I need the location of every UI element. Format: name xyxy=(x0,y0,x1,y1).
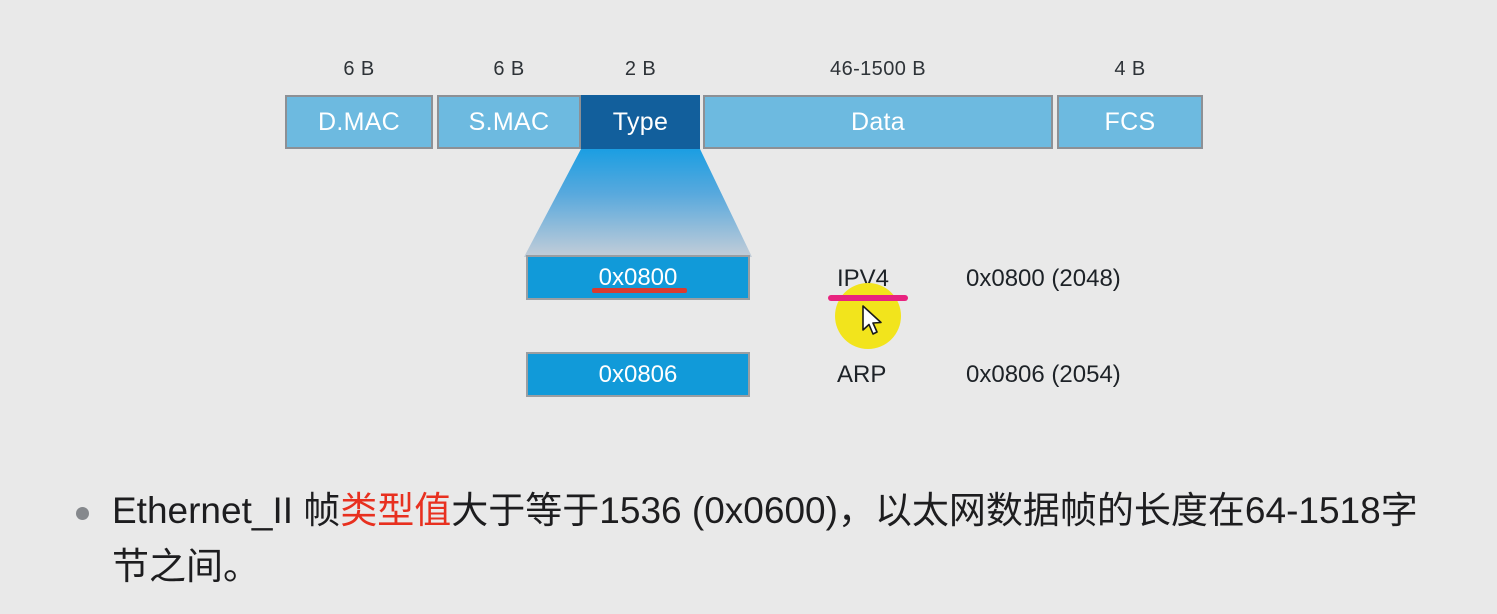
type-value-box-0x0806[interactable]: 0x0806 xyxy=(526,352,750,397)
byte-label-type: 2 B xyxy=(581,58,700,81)
frame-field-fcs[interactable]: FCS xyxy=(1057,95,1203,149)
type-value-box-0x0800[interactable]: 0x0800 xyxy=(526,255,750,300)
frame-field-smac[interactable]: S.MAC xyxy=(437,95,581,149)
bullet-segment-plain-1: Ethernet_II 帧 xyxy=(112,490,340,531)
mouse-cursor-icon xyxy=(862,305,884,337)
byte-label-fcs: 4 B xyxy=(1057,58,1203,81)
byte-label-dmac: 6 B xyxy=(285,58,433,81)
protocol-name-arp: ARP xyxy=(837,361,886,389)
protocol-value-arp: 0x0806 (2054) xyxy=(966,361,1121,389)
frame-field-data[interactable]: Data xyxy=(703,95,1053,149)
frame-field-dmac[interactable]: D.MAC xyxy=(285,95,433,149)
slide-canvas: 6 B 6 B 2 B 46-1500 B 4 B D.MAC S.MAC Ty… xyxy=(0,0,1497,614)
protocol-value-ipv4: 0x0800 (2048) xyxy=(966,265,1121,293)
bullet-marker-icon xyxy=(76,507,89,520)
ethernet-frame-bar: D.MAC S.MAC Type Data FCS xyxy=(285,95,1203,149)
zoom-funnel-connector xyxy=(524,149,752,257)
byte-label-smac: 6 B xyxy=(437,58,581,81)
pink-stroke-annotation xyxy=(828,295,908,301)
byte-label-data: 46-1500 B xyxy=(703,58,1053,81)
bullet-segment-highlight: 类型值 xyxy=(340,490,451,531)
frame-field-type[interactable]: Type xyxy=(581,95,700,149)
red-underline-annotation xyxy=(592,288,687,293)
bullet-paragraph: Ethernet_II 帧类型值大于等于1536 (0x0600)，以太网数据帧… xyxy=(112,483,1452,595)
